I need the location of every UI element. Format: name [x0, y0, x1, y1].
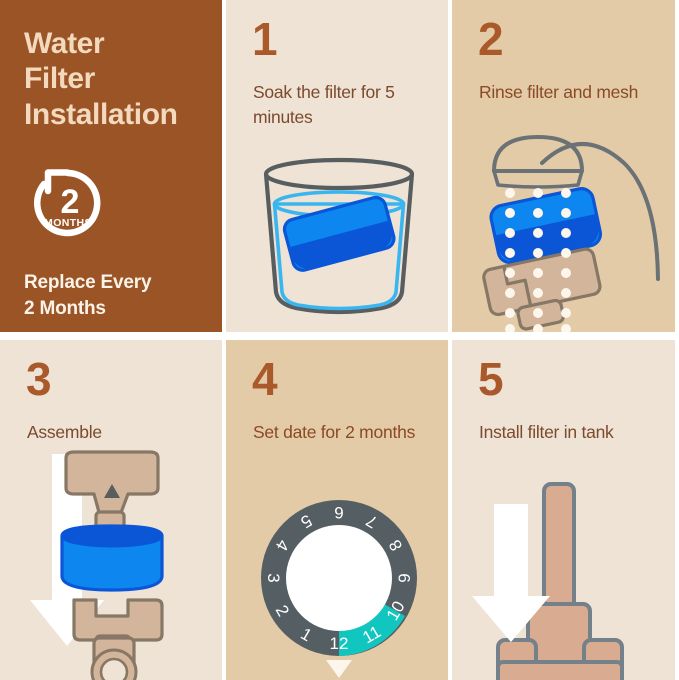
triangle-pointer: [326, 660, 352, 678]
replace-cycle-badge: 2 MONTHS: [22, 164, 222, 250]
dial-number-9[interactable]: 9: [395, 573, 414, 582]
step-panel-1: 1 Soak the filter for 5 minutes: [226, 0, 448, 332]
infographic-grid: Water Filter Installation 2 MONTHS Repla…: [0, 0, 679, 680]
step-text-1: Soak the filter for 5 minutes: [253, 80, 433, 130]
title-line-2: Filter: [24, 61, 200, 96]
step-text-3: Assemble: [27, 420, 207, 445]
step-number-3: 3: [26, 356, 51, 402]
dial-number-6[interactable]: 6: [334, 503, 343, 522]
tank-install-illustration: [452, 480, 675, 680]
title-block: Water Filter Installation: [0, 0, 222, 132]
title-line-3: Installation: [24, 97, 200, 132]
step-panel-5: 5 Install filter in tank: [452, 340, 675, 680]
page-title: Water Filter Installation: [24, 26, 200, 132]
blue-filter-canister: [62, 526, 162, 590]
step-panel-3: 3 Assemble: [0, 340, 222, 680]
replace-note-line-2: 2 Months: [24, 296, 202, 322]
glass-with-filter-illustration: [226, 142, 448, 332]
dial-number-3[interactable]: 3: [264, 573, 283, 582]
title-panel: Water Filter Installation 2 MONTHS Repla…: [0, 0, 222, 332]
badge-number: 2: [61, 183, 80, 221]
step-number-2: 2: [478, 16, 503, 62]
badge-unit: MONTHS: [44, 217, 92, 229]
step-text-5: Install filter in tank: [479, 420, 659, 445]
step-number-1: 1: [252, 16, 277, 62]
refresh-cycle-icon: 2 MONTHS: [22, 164, 114, 250]
step-number-5: 5: [478, 356, 503, 402]
faucet-rinse-illustration: [452, 127, 675, 332]
step-panel-2: 2 Rinse filter and mesh: [452, 0, 675, 332]
replace-note-line-1: Replace Every: [24, 270, 202, 296]
assembly-illustration: [0, 450, 222, 680]
dial-number-12[interactable]: 12: [330, 634, 349, 653]
step-panel-4: 4 Set date for 2 months 123456789101112: [226, 340, 448, 680]
step-text-4: Set date for 2 months: [253, 420, 433, 445]
dial-face: [286, 525, 392, 631]
step-number-4: 4: [252, 356, 277, 402]
step-text-2: Rinse filter and mesh: [479, 80, 659, 105]
title-line-1: Water: [24, 26, 200, 61]
date-dial-illustration: 123456789101112: [226, 470, 448, 680]
replace-note: Replace Every 2 Months: [0, 250, 222, 322]
